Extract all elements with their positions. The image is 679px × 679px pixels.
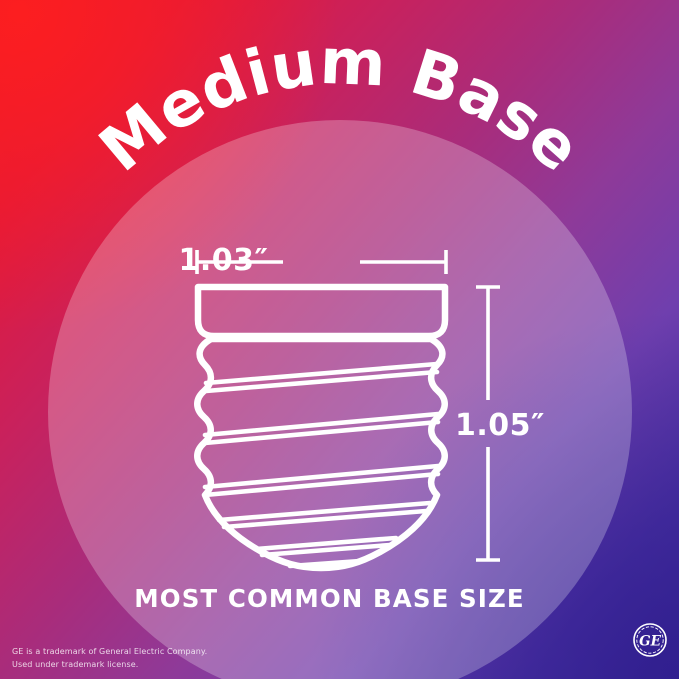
bulb-base-diagram xyxy=(0,0,679,679)
trademark-line-1: GE is a trademark of General Electric Co… xyxy=(12,646,207,659)
width-dimension-label: 1.03″ xyxy=(0,243,679,278)
height-dimension-label: 1.05″ xyxy=(455,408,545,443)
infographic-canvas: Medium Base xyxy=(0,0,679,679)
svg-text:GE: GE xyxy=(639,633,662,649)
trademark-notice: GE is a trademark of General Electric Co… xyxy=(12,646,207,671)
bulb-collar xyxy=(198,287,445,336)
ge-monogram-icon: GE xyxy=(632,622,668,658)
trademark-line-2: Used under trademark license. xyxy=(12,659,207,672)
caption-text: MOST COMMON BASE SIZE xyxy=(0,584,679,613)
